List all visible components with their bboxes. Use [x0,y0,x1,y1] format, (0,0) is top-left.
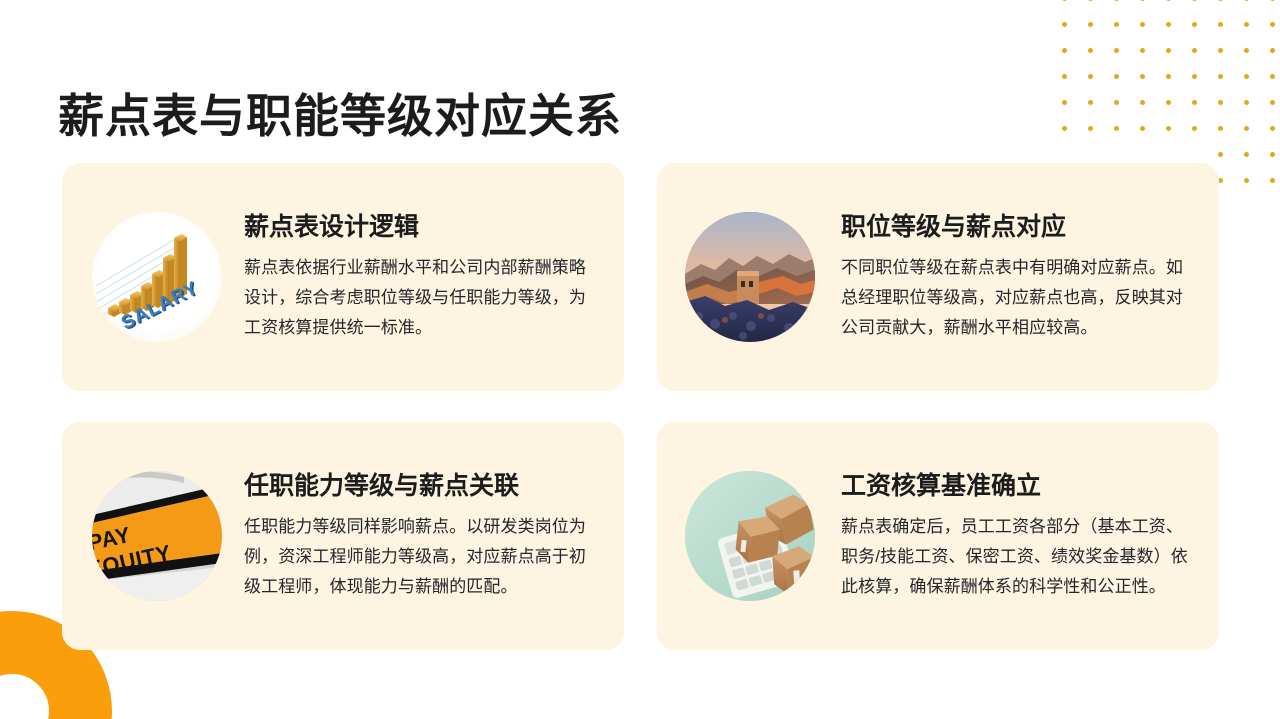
decor-dot [1218,0,1223,1]
decor-dot [1192,22,1197,27]
card-position-level-mapping[interactable]: 职位等级与薪点对应 不同职位等级在薪点表中有明确对应薪点。如总经理职位等级高，对… [657,163,1219,391]
card-text: 薪点表依据行业薪酬水平和公司内部薪酬策略设计，综合考虑职位等级与任职能力等级，为… [244,253,602,343]
decor-dot [1062,22,1067,27]
card-salary-design-logic[interactable]: SALARY SALARY 薪点表设计逻辑 薪点表依据行业薪酬水平和公司内部薪酬… [62,163,624,391]
great-wall-sunset-image [685,212,815,342]
slide-root: 薪点表与职能等级对应关系 [0,0,1280,719]
decor-dot [1166,48,1171,53]
decor-dot [1088,48,1093,53]
salary-bar-chart-image: SALARY SALARY [92,212,222,342]
card-body: 职位等级与薪点对应 不同职位等级在薪点表中有明确对应薪点。如总经理职位等级高，对… [841,210,1197,345]
decor-dot [1218,48,1223,53]
card-text: 任职能力等级同样影响薪点。以研发类岗位为例，资深工程师能力等级高，对应薪点高于初… [244,512,602,602]
decor-dot [1244,126,1249,131]
decor-dot [1062,126,1067,131]
card-text: 不同职位等级在薪点表中有明确对应薪点。如总经理职位等级高，对应薪点也高，反映其对… [841,253,1197,343]
decor-dot [1244,178,1249,183]
card-text: 薪点表确定后，员工工资各部分（基本工资、职务/技能工资、保密工资、绩效奖金基数）… [841,512,1197,602]
card-body: 工资核算基准确立 薪点表确定后，员工工资各部分（基本工资、职务/技能工资、保密工… [841,469,1197,604]
decor-dot [1140,48,1145,53]
decor-dot [1244,74,1249,79]
decor-dot [1270,74,1275,79]
decor-dot [1114,126,1119,131]
card-competency-level-link[interactable]: PAY EQUITY 任职能力等级与薪点关联 任职能力等级同样影响薪点。以研发类… [62,422,624,650]
decor-dot [1140,100,1145,105]
decor-dot [1114,74,1119,79]
decor-dot [1192,100,1197,105]
decor-dot [1218,74,1223,79]
decor-dot [1088,100,1093,105]
decor-dot [1270,48,1275,53]
card-body: 薪点表设计逻辑 薪点表依据行业薪酬水平和公司内部薪酬策略设计，综合考虑职位等级与… [244,210,602,345]
decor-dot [1270,152,1275,157]
decor-dot [1166,126,1171,131]
decor-dot [1166,22,1171,27]
card-body: 任职能力等级与薪点关联 任职能力等级同样影响薪点。以研发类岗位为例，资深工程师能… [244,469,602,604]
decor-dot [1270,22,1275,27]
decor-dot [1062,100,1067,105]
decor-dot [1166,100,1171,105]
calculator-boxes-image [685,471,815,601]
decor-dot [1244,152,1249,157]
decor-dot [1270,126,1275,131]
decor-dot [1062,74,1067,79]
decor-dot [1244,22,1249,27]
decor-dot [1244,48,1249,53]
decor-dot [1192,126,1197,131]
decor-dot [1088,126,1093,131]
decor-dot [1244,100,1249,105]
decor-dot [1270,178,1275,183]
decor-dot [1270,100,1275,105]
decor-dot [1114,48,1119,53]
decor-dot [1166,0,1171,1]
decor-dot [1088,0,1093,1]
decor-dot [1270,0,1275,1]
decor-dot [1062,0,1067,1]
decor-dot [1218,100,1223,105]
decor-dot [1166,74,1171,79]
decor-dot [1140,0,1145,1]
decor-dot [1244,0,1249,1]
decor-dot [1192,0,1197,1]
card-heading: 职位等级与薪点对应 [841,210,1197,244]
card-heading: 任职能力等级与薪点关联 [244,469,602,503]
card-payroll-baseline[interactable]: 工资核算基准确立 薪点表确定后，员工工资各部分（基本工资、职务/技能工资、保密工… [657,422,1219,650]
card-heading: 薪点表设计逻辑 [244,210,602,244]
decor-dot [1114,22,1119,27]
pay-equity-banner-image: PAY EQUITY [92,471,222,601]
decor-dot [1088,74,1093,79]
decor-dot [1140,22,1145,27]
card-heading: 工资核算基准确立 [841,469,1197,503]
decor-dot [1114,0,1119,1]
page-title: 薪点表与职能等级对应关系 [58,87,622,145]
decor-dot [1218,152,1223,157]
decor-dot [1062,48,1067,53]
decor-dot [1218,22,1223,27]
decor-dot [1218,126,1223,131]
decor-dot [1192,74,1197,79]
decor-dot [1140,126,1145,131]
decor-dot [1088,22,1093,27]
card-grid: SALARY SALARY 薪点表设计逻辑 薪点表依据行业薪酬水平和公司内部薪酬… [62,163,1217,650]
decor-dot [1192,48,1197,53]
decor-dot [1140,74,1145,79]
decor-dot [1114,100,1119,105]
